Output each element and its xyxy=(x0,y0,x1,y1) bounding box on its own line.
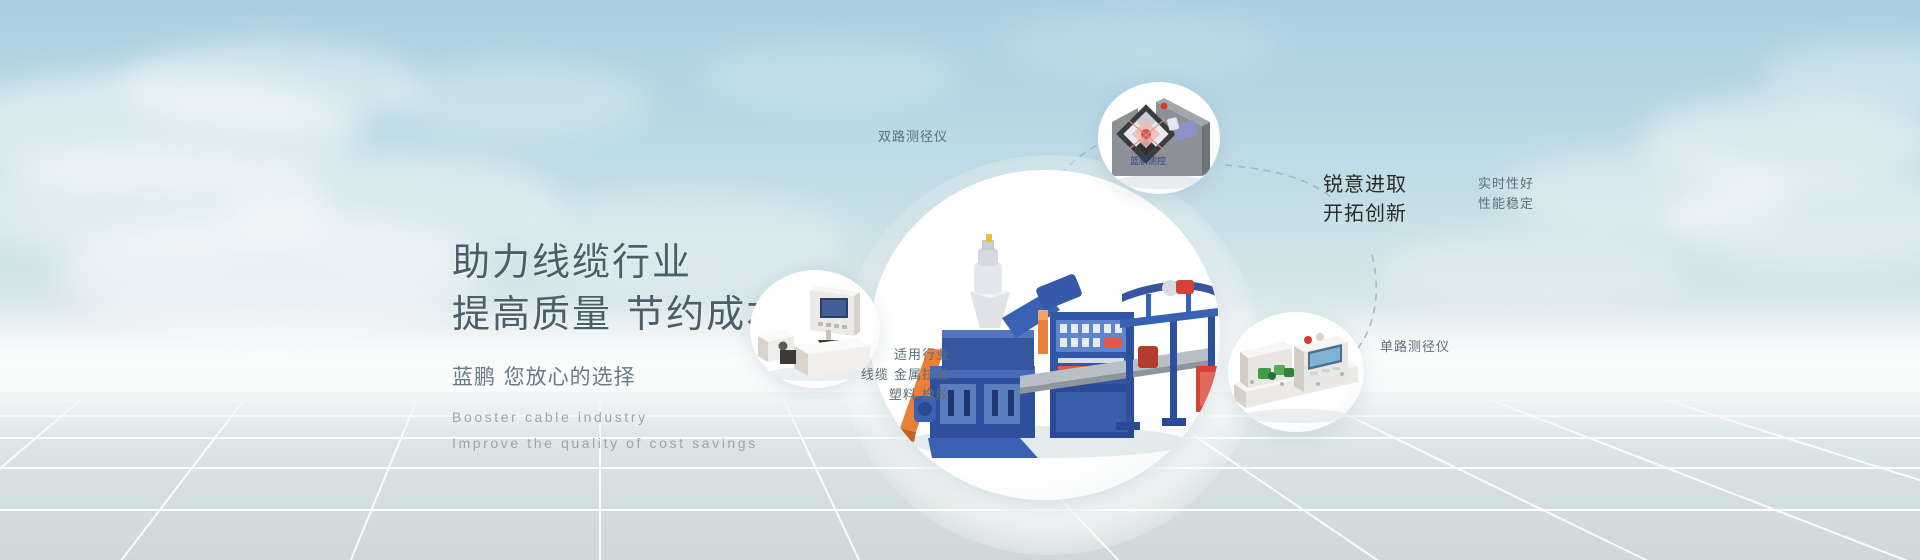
cloud-shape xyxy=(390,60,650,140)
cloud-shape xyxy=(0,70,360,190)
cloud-shape xyxy=(60,215,480,335)
label-features: 实时性好 性能稳定 xyxy=(1478,175,1534,215)
headline-line-1: 助力线缆行业 xyxy=(452,236,786,288)
headline-line-2: 提高质量 节约成本 xyxy=(452,288,786,340)
single-laser-gauge-icon xyxy=(1228,312,1364,432)
label-industries: 适用行业 线缆 金属拉丝 塑料 橡胶 xyxy=(760,346,950,406)
industry-line-2: 塑料 橡胶 xyxy=(760,386,950,406)
subheadline: 蓝鹏 您放心的选择 xyxy=(452,362,786,392)
label-single-gauge: 单路测径仪 xyxy=(1380,338,1450,358)
product-composition: 蓝鹏测控 xyxy=(880,70,1920,530)
feature-line-2: 性能稳定 xyxy=(1478,195,1534,215)
slogan-line-2: 开拓创新 xyxy=(1300,199,1430,228)
main-product-bubble xyxy=(870,170,1220,500)
single-gauge-bubble xyxy=(1228,312,1364,432)
cable-extrusion-line-icon xyxy=(870,170,1220,500)
english-line-2: Improve the quality of cost savings xyxy=(452,430,786,456)
banner-copy: 助力线缆行业 提高质量 节约成本 蓝鹏 您放心的选择 Booster cable… xyxy=(452,236,786,456)
device-brand-text: 蓝鹏测控 xyxy=(1130,155,1166,167)
hero-banner: 助力线缆行业 提高质量 节约成本 蓝鹏 您放心的选择 Booster cable… xyxy=(0,0,1920,560)
slogan-block: 锐意进取 开拓创新 xyxy=(1300,170,1430,228)
slogan-line-1: 锐意进取 xyxy=(1300,170,1430,199)
dual-laser-gauge-icon: 蓝鹏测控 xyxy=(1098,82,1220,194)
feature-line-1: 实时性好 xyxy=(1478,175,1534,195)
english-line-1: Booster cable industry xyxy=(452,404,786,430)
cloud-shape xyxy=(0,150,330,260)
label-dual-gauge: 双路测径仪 xyxy=(798,128,948,148)
industry-title: 适用行业 xyxy=(760,346,950,366)
dual-gauge-bubble: 蓝鹏测控 xyxy=(1098,82,1220,194)
cloud-shape xyxy=(120,40,420,130)
industry-line-1: 线缆 金属拉丝 xyxy=(760,366,950,386)
